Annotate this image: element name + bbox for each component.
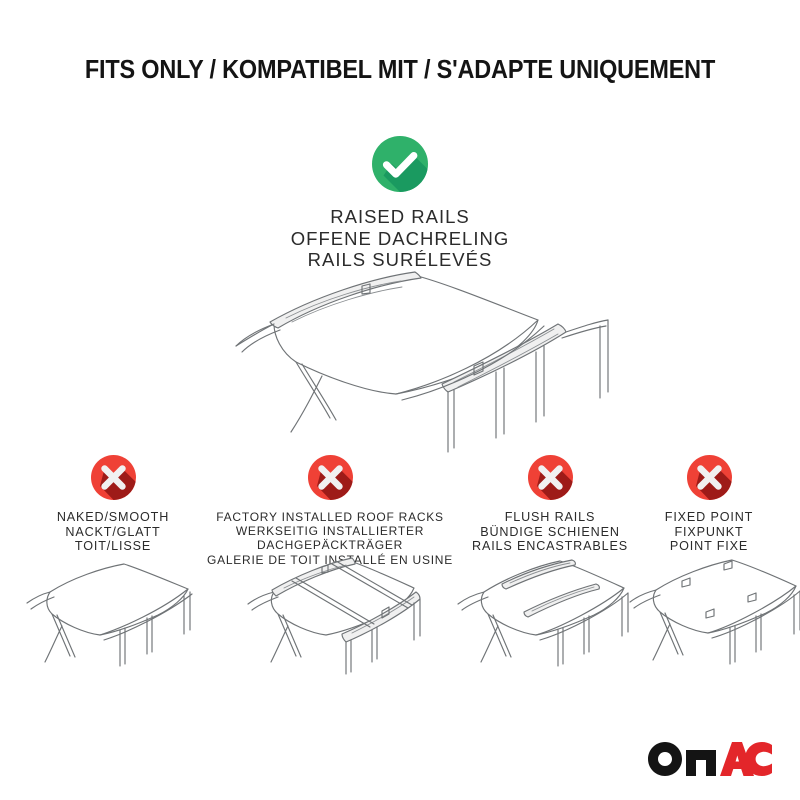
incompatible-item-naked-smooth: NAKED/SMOOTH NACKT/GLATT TOIT/LISSE — [13, 455, 213, 554]
label-en: FLUSH RAILS — [455, 510, 645, 525]
label-en: NAKED/SMOOTH — [13, 510, 213, 525]
compatible-label-en: RAISED RAILS — [0, 206, 800, 228]
car-roof-fixed-point-illustration — [620, 548, 800, 688]
compatible-label-fr: RAILS SURÉLEVÉS — [0, 249, 800, 271]
page-title: FITS ONLY / KOMPATIBEL MIT / S'ADAPTE UN… — [32, 56, 768, 85]
car-roof-with-raised-rails-illustration — [196, 272, 626, 457]
compatible-section: RAISED RAILS OFFENE DACHRELING RAILS SUR… — [0, 136, 800, 271]
compatible-labels: RAISED RAILS OFFENE DACHRELING RAILS SUR… — [0, 206, 800, 271]
omac-logo — [648, 742, 772, 776]
incompatible-item-fixed-point: FIXED POINT FIXPUNKT POINT FIXE — [634, 455, 784, 554]
x-circle-icon — [91, 455, 136, 500]
car-roof-bare-illustration — [12, 556, 212, 686]
car-roof-with-factory-crossbars-illustration — [232, 548, 447, 688]
check-circle-icon — [372, 136, 428, 192]
x-circle-icon — [308, 455, 353, 500]
label-de: FIXPUNKT — [634, 525, 784, 540]
logo-letter-m — [686, 750, 716, 776]
label-de: NACKT/GLATT — [13, 525, 213, 540]
label-de: BÜNDIGE SCHIENEN — [455, 525, 645, 540]
compatible-label-de: OFFENE DACHRELING — [0, 228, 800, 250]
x-circle-icon — [687, 455, 732, 500]
x-circle-icon — [528, 455, 573, 500]
incompatible-item-flush-rails: FLUSH RAILS BÜNDIGE SCHIENEN RAILS ENCAS… — [455, 455, 645, 554]
incompatible-labels: NAKED/SMOOTH NACKT/GLATT TOIT/LISSE — [13, 510, 213, 554]
label-fr: TOIT/LISSE — [13, 539, 213, 554]
label-en: FIXED POINT — [634, 510, 784, 525]
label-en: FACTORY INSTALLED ROOF RACKS — [205, 510, 455, 524]
logo-letter-o — [648, 742, 682, 776]
label-de-1: WERKSEITIG INSTALLIERTER — [205, 524, 455, 538]
